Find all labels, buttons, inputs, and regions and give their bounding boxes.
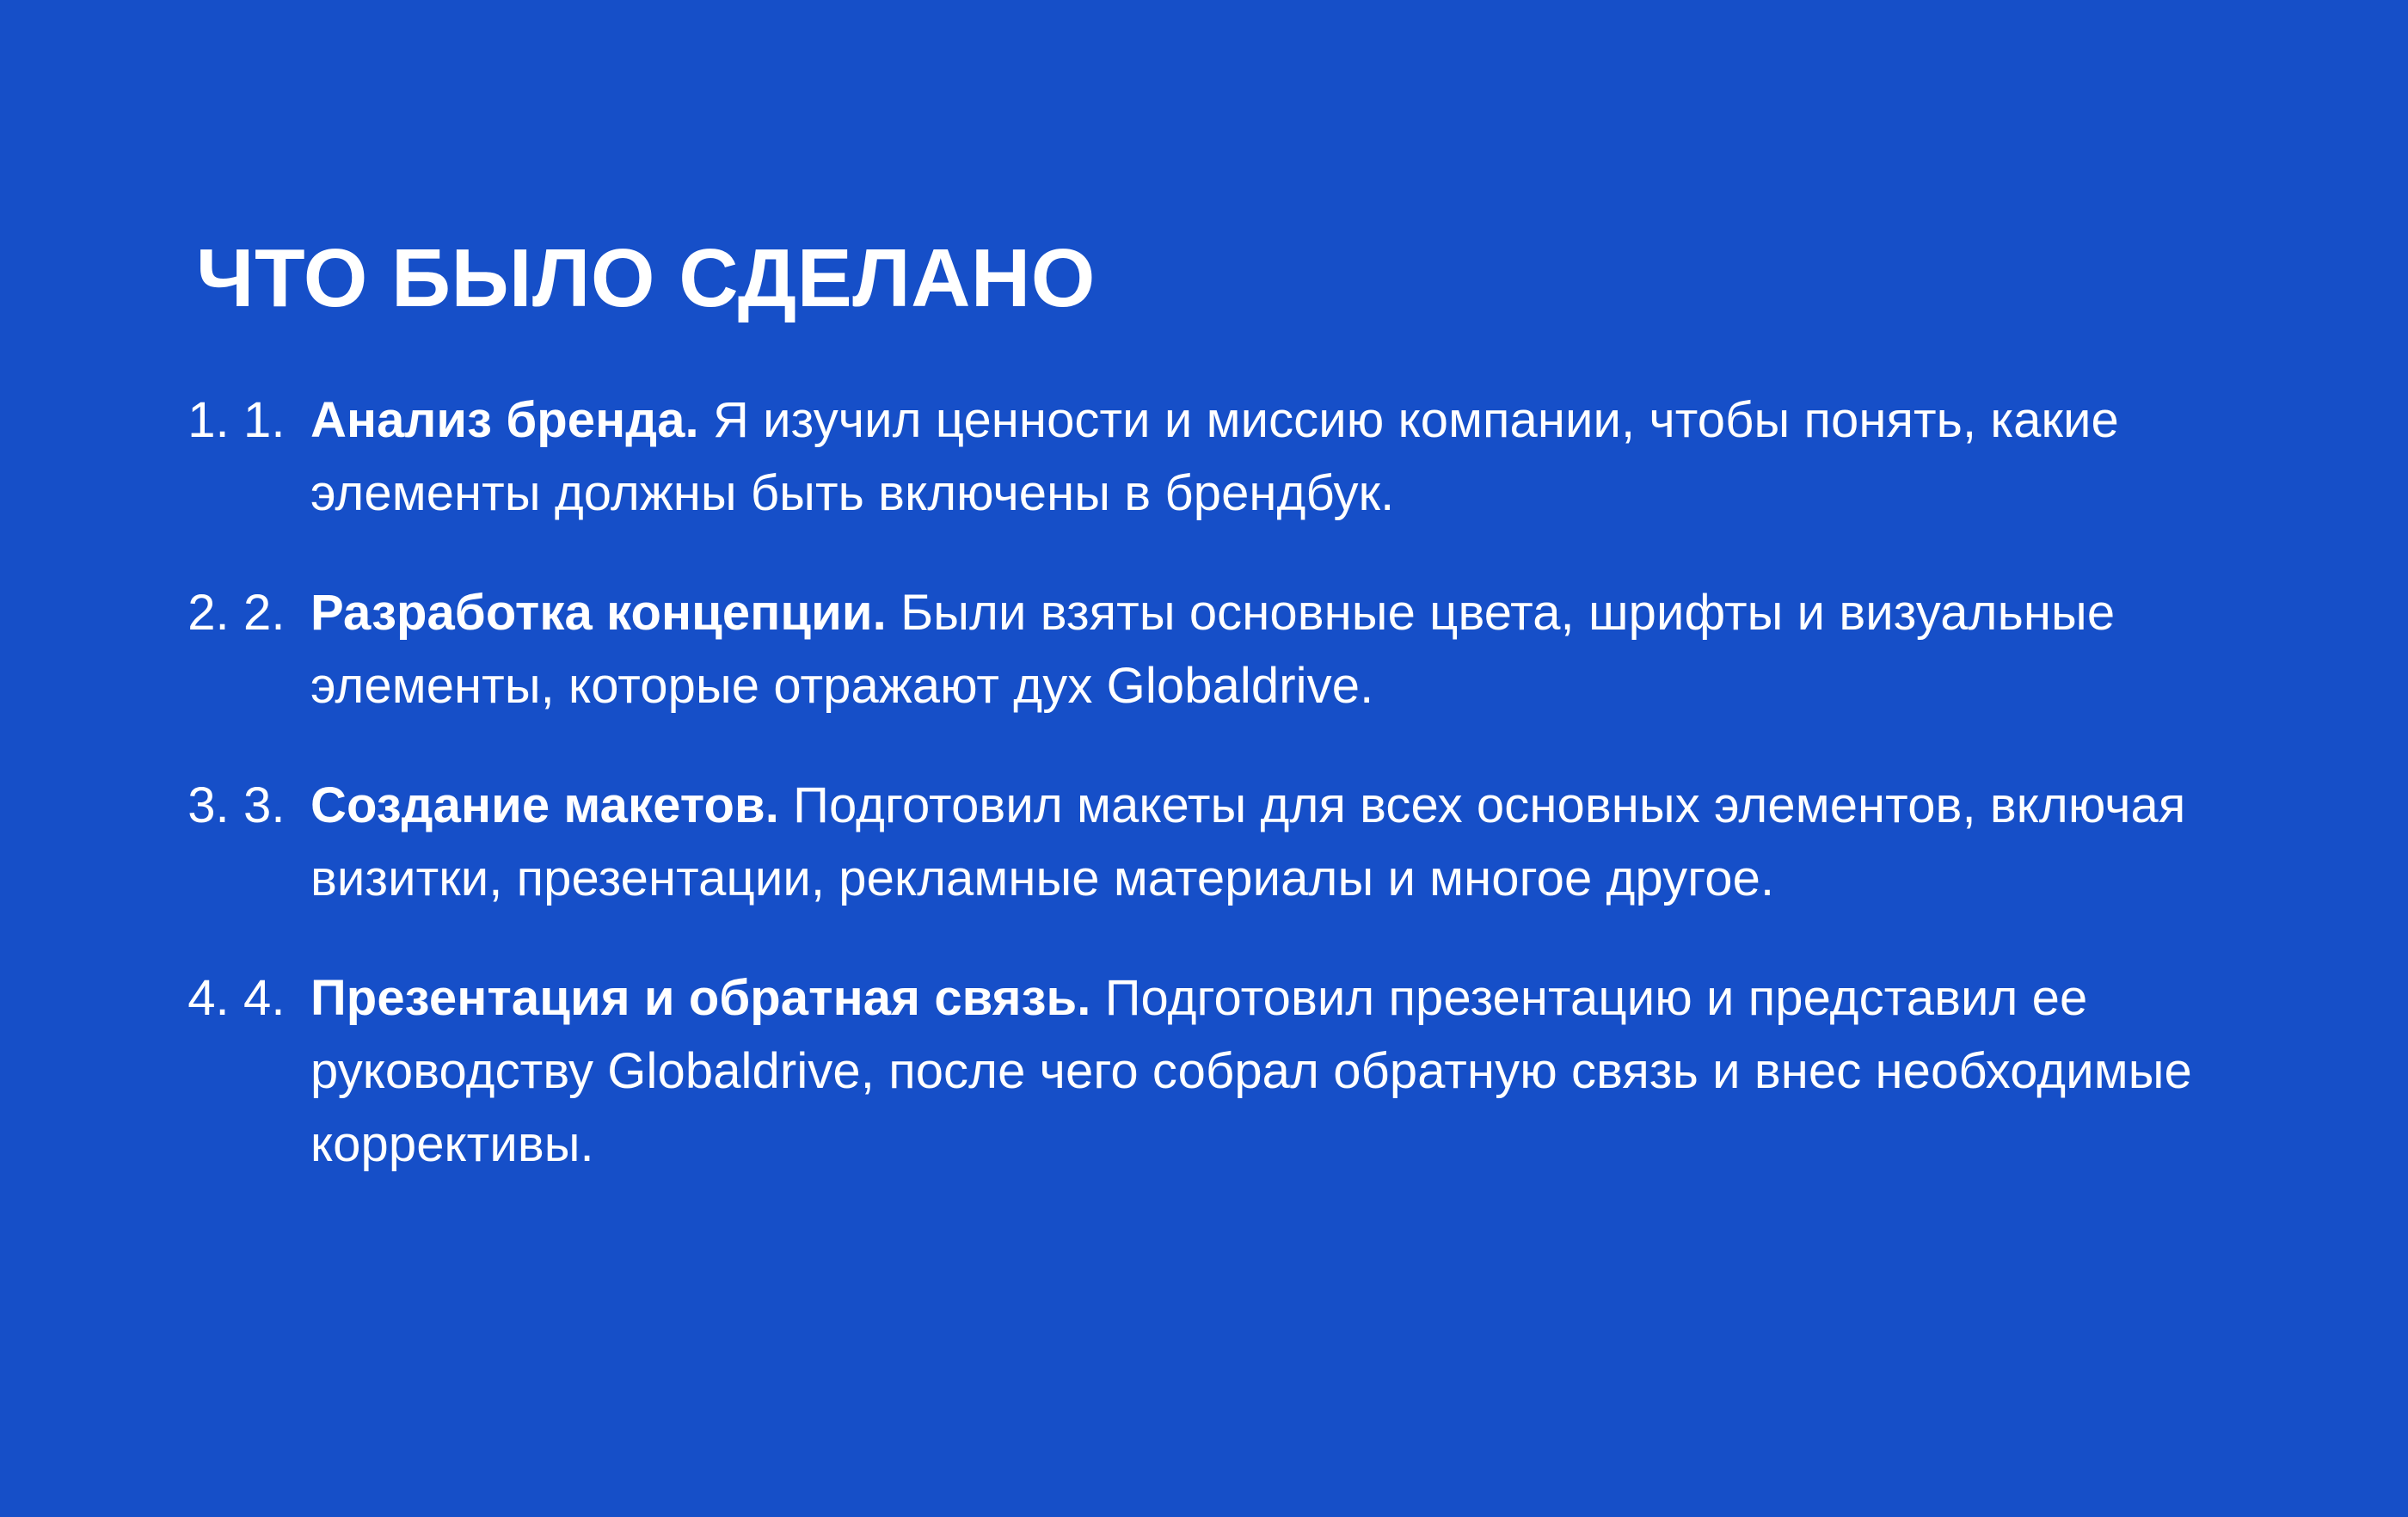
list-item-number: 1. [243,384,304,457]
list-item-body: Презентация и обратная связь. Подготовил… [310,961,2333,1181]
list-item-number: 3. [243,769,304,842]
list-item-number: 4. [243,961,304,1035]
list-item: 1. Анализ бренда. Я изучил ценности и ми… [243,384,2333,530]
list-item: 3. Создание макетов. Подготовил макеты д… [243,769,2333,915]
list-item-lead: Презентация и обратная связь. [310,970,1091,1026]
slide-canvas: ЧТО БЫЛО СДЕЛАНО 1. Анализ бренда. Я изу… [0,0,2408,1517]
list-item-lead: Создание макетов. [310,777,779,833]
list-item-body: Разработка концепции. Были взяты основны… [310,576,2333,722]
list-item: 2. Разработка концепции. Были взяты осно… [243,576,2333,722]
list-item: 4. Презентация и обратная связь. Подгото… [243,961,2333,1181]
list-item-lead: Анализ бренда. [310,392,699,448]
list-item-body: Создание макетов. Подготовил макеты для … [310,769,2333,915]
page-title: ЧТО БЫЛО СДЕЛАНО [196,234,1096,323]
numbered-steps-list: 1. Анализ бренда. Я изучил ценности и ми… [209,384,2333,1181]
list-item-lead: Разработка концепции. [310,585,887,641]
list-item-body: Анализ бренда. Я изучил ценности и мисси… [310,384,2333,530]
list-item-number: 2. [243,576,304,649]
